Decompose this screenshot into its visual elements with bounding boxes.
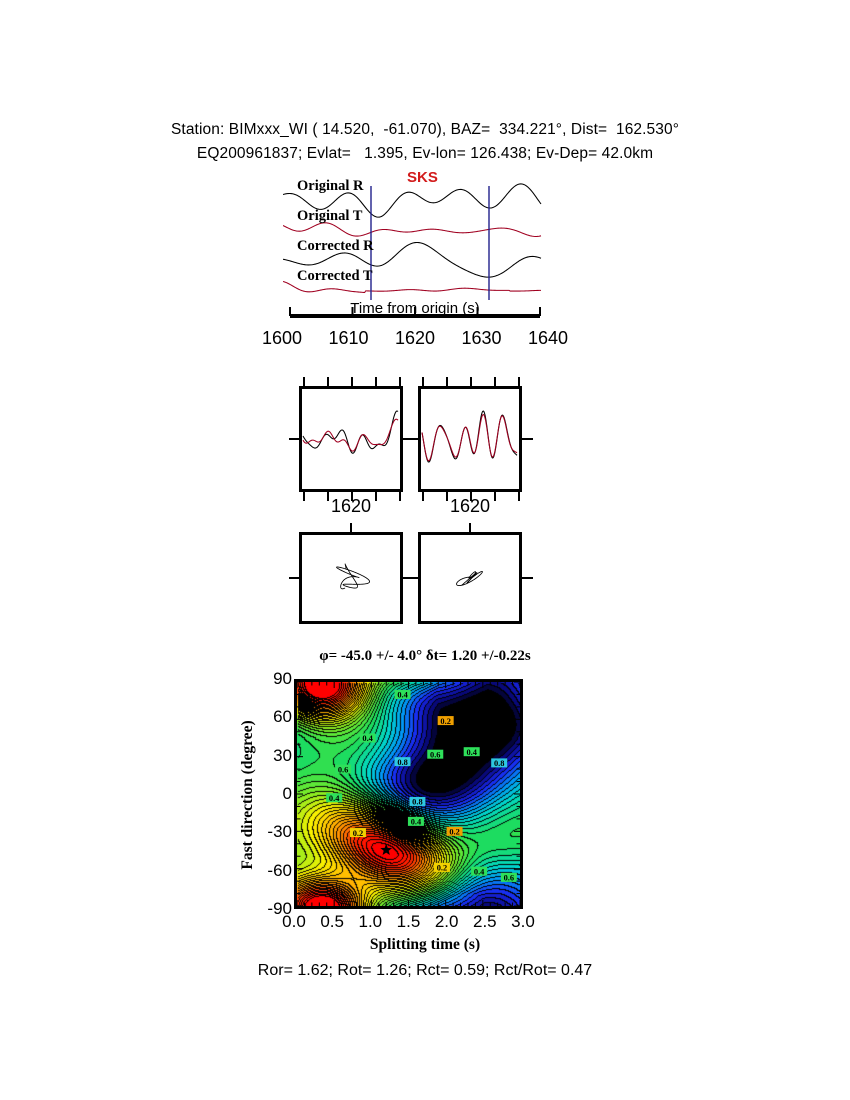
hodogram-top-tick (469, 523, 471, 532)
contour-label: 0.4 (464, 747, 480, 757)
trace-label-3: Corrected T (297, 268, 373, 284)
contour-x-tick-label-2: 1.0 (359, 912, 383, 932)
contour-label: 0.2 (350, 828, 366, 838)
contour-label-text: 0.2 (440, 717, 450, 726)
contour-x-tick-label-6: 3.0 (511, 912, 535, 932)
contour-x-tick-label-5: 2.5 (473, 912, 497, 932)
contour-plot-title: φ= -45.0 +/- 4.0° δt= 1.20 +/-0.22s (0, 648, 850, 665)
contour-label: 0.2 (447, 827, 463, 837)
particle-motion-path (337, 564, 370, 589)
contour-label-text: 0.2 (449, 828, 459, 837)
contour-x-ticklabels: 0.00.51.01.52.02.53.0 (272, 912, 545, 936)
wave-box-top-tick (303, 377, 305, 386)
contour-label: 0.2 (438, 716, 454, 726)
wave-box-top-tick (494, 377, 496, 386)
particle-motion-panel-uncorrected (299, 532, 403, 624)
time-axis-ticklabels: 16001610162016301640 (262, 328, 568, 349)
wave-box-bottom-tick (470, 492, 472, 501)
contour-x-axis-title: Splitting time (s) (0, 936, 850, 954)
wave-box-bottom-tick (399, 492, 401, 501)
time-tick-label-0: 1600 (262, 328, 302, 349)
contour-label: 0.4 (326, 793, 342, 803)
particle-motion-panel-corrected (418, 532, 522, 624)
wave-box-side-tick (522, 438, 533, 440)
time-tick-label-3: 1630 (461, 328, 501, 349)
contour-label-text: 0.6 (504, 874, 514, 883)
waveform-trace-stack: Original ROriginal TCorrected RCorrected… (283, 168, 543, 300)
wave-box-bottom-tick (446, 492, 448, 501)
fast-slow-panel-corrected: 1620 (418, 386, 522, 492)
contour-x-tick-label-4: 2.0 (435, 912, 459, 932)
wave-box-top-tick (422, 377, 424, 386)
contour-label-text: 0.8 (397, 758, 407, 767)
wave-box-bottom-tick (422, 492, 424, 501)
wave-box-bottom-tick (375, 492, 377, 501)
fast-slow-trace-1 (422, 414, 517, 460)
contour-label-text: 0.8 (494, 759, 504, 768)
contour-x-tick-label-0: 0.0 (282, 912, 306, 932)
fast-slow-trace-1 (303, 419, 398, 451)
hodogram-side-tick (522, 577, 533, 579)
wave-box-top-tick (399, 377, 401, 386)
contour-y-tick-label-0: 90 (273, 669, 292, 689)
wave-box-top-tick (518, 377, 520, 386)
wave-box-bottom-tick (518, 492, 520, 501)
figure-header: Station: BIMxxx_WI ( 14.520, -61.070), B… (0, 118, 850, 166)
fast-slow-trace-0 (303, 411, 398, 453)
contour-label-text: 0.4 (397, 691, 408, 700)
contour-y-tick-label-5: -60 (267, 861, 292, 881)
contour-y-tick-label-4: -30 (267, 822, 292, 842)
contour-label: 0.6 (427, 750, 443, 760)
wave-box-top-tick (351, 377, 353, 386)
contour-label: 0.6 (335, 765, 351, 775)
contour-x-tick-label-3: 1.5 (397, 912, 421, 932)
contour-label: 0.8 (491, 758, 507, 768)
contour-label-text: 0.2 (353, 829, 363, 838)
contour-label: 0.4 (360, 734, 376, 744)
contour-y-tick-label-3: 0 (283, 784, 292, 804)
contour-y-ticklabels: 9060300-30-60-90 (252, 670, 292, 918)
trace-label-2: Corrected R (297, 238, 374, 254)
contour-label: 0.4 (408, 817, 424, 827)
wave-box-top-tick (470, 377, 472, 386)
contour-x-tick-label-1: 0.5 (320, 912, 344, 932)
contour-label: 0.4 (395, 690, 411, 700)
hodogram-side-tick (289, 577, 300, 579)
trace-label-0: Original R (297, 178, 364, 194)
contour-label: 0.8 (395, 757, 411, 767)
time-tick-label-1: 1610 (328, 328, 368, 349)
contour-label-text: 0.4 (411, 818, 422, 827)
contour-y-tick-label-1: 60 (273, 707, 292, 727)
contour-label: 0.4 (471, 867, 487, 877)
wave-box-top-tick (446, 377, 448, 386)
contour-y-tick-label-2: 30 (273, 746, 292, 766)
contour-label-text: 0.6 (338, 765, 348, 774)
wave-box-bottom-tick (327, 492, 329, 501)
wave-box-bottom-tick (303, 492, 305, 501)
hodogram-top-tick (350, 523, 352, 532)
trace-line-1 (283, 223, 541, 237)
fast-slow-panel-uncorrected: 1620 (299, 386, 403, 492)
particle-motion-path (457, 571, 483, 585)
contour-label-text: 0.4 (474, 867, 485, 876)
wave-box-top-tick (327, 377, 329, 386)
quality-metrics-footer: Ror= 1.62; Rot= 1.26; Rct= 0.59; Rct/Rot… (0, 962, 850, 980)
time-tick-label-4: 1640 (528, 328, 568, 349)
event-info-line: EQ200961837; Evlat= 1.395, Ev-lon= 126.4… (0, 142, 850, 166)
contour-label: 0.2 (434, 863, 450, 873)
contour-label: 0.6 (501, 873, 517, 883)
splitting-misfit-contour-plot[interactable]: 0.40.20.40.60.40.80.80.60.40.80.40.20.20… (294, 679, 523, 909)
station-info-line: Station: BIMxxx_WI ( 14.520, -61.070), B… (0, 118, 850, 142)
time-tick-label-2: 1620 (395, 328, 435, 349)
contour-label-text: 0.8 (412, 798, 422, 807)
contour-label-text: 0.2 (437, 864, 447, 873)
trace-label-1: Original T (297, 208, 363, 224)
wave-box-bottom-tick (494, 492, 496, 501)
wave-box-side-tick (408, 438, 419, 440)
contour-label-text: 0.6 (430, 750, 440, 759)
contour-label: 0.8 (409, 797, 425, 807)
sks-phase-label: SKS (407, 169, 438, 186)
wave-box-side-tick (289, 438, 300, 440)
contour-label-text: 0.4 (329, 794, 340, 803)
wave-box-top-tick (375, 377, 377, 386)
contour-label-text: 0.4 (362, 734, 373, 743)
hodogram-side-tick (408, 577, 419, 579)
contour-label-text: 0.4 (466, 748, 477, 757)
wave-box-bottom-tick (351, 492, 353, 501)
